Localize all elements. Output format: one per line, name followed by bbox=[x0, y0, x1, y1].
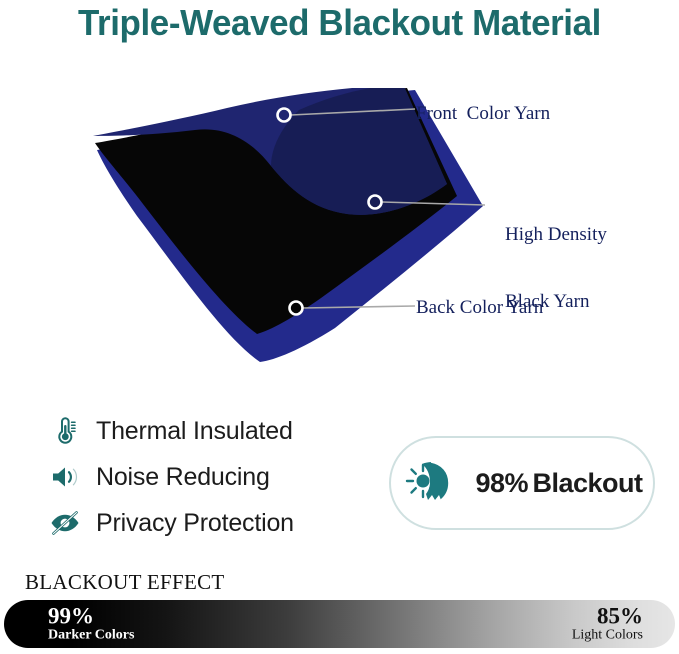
bar-right-caption: Light Colors bbox=[572, 629, 643, 644]
feature-label-thermal-insulated: Thermal Insulated bbox=[96, 417, 293, 446]
blackout-badge: 98% Blackout bbox=[389, 436, 655, 530]
badge-text: 98% Blackout bbox=[475, 469, 642, 498]
infographic-page: Triple-Weaved Blackout Material bbox=[0, 0, 679, 654]
blackout-effect-gradient-bar: 99% Darker Colors 85% Light Colors bbox=[4, 600, 675, 648]
blackout-effect-heading: BLACKOUT EFFECT bbox=[25, 570, 225, 595]
feature-thermal-insulated: Thermal Insulated bbox=[48, 408, 368, 454]
bar-left-stat: 99% Darker Colors bbox=[48, 605, 134, 644]
sun-blocked-icon bbox=[401, 453, 465, 513]
label-back-color-yarn: Back Color Yarn bbox=[416, 297, 543, 319]
feature-list: Thermal Insulated Noise Reducing bbox=[48, 408, 368, 546]
eye-slash-icon bbox=[48, 506, 82, 540]
label-front-color-yarn: Front Color Yarn bbox=[416, 103, 550, 125]
bar-left-caption: Darker Colors bbox=[48, 629, 134, 644]
page-title: Triple-Weaved Blackout Material bbox=[10, 2, 669, 44]
feature-label-noise-reducing: Noise Reducing bbox=[96, 463, 270, 492]
bar-right-percent: 85% bbox=[572, 605, 643, 629]
feature-noise-reducing: Noise Reducing bbox=[48, 454, 368, 500]
label-high-density-black-yarn: High Density Black Yarn bbox=[505, 179, 607, 358]
thermometer-icon bbox=[48, 414, 82, 448]
triple-layer-fabric-diagram bbox=[85, 88, 485, 363]
badge-percent: 98% bbox=[475, 468, 528, 498]
badge-word: Blackout bbox=[532, 468, 642, 498]
label-high-density-black-yarn-line1: High Density bbox=[505, 224, 607, 246]
bar-left-percent: 99% bbox=[48, 605, 134, 629]
feature-label-privacy-protection: Privacy Protection bbox=[96, 509, 294, 538]
speaker-sound-icon bbox=[48, 460, 82, 494]
feature-privacy-protection: Privacy Protection bbox=[48, 500, 368, 546]
bar-right-stat: 85% Light Colors bbox=[572, 605, 643, 644]
